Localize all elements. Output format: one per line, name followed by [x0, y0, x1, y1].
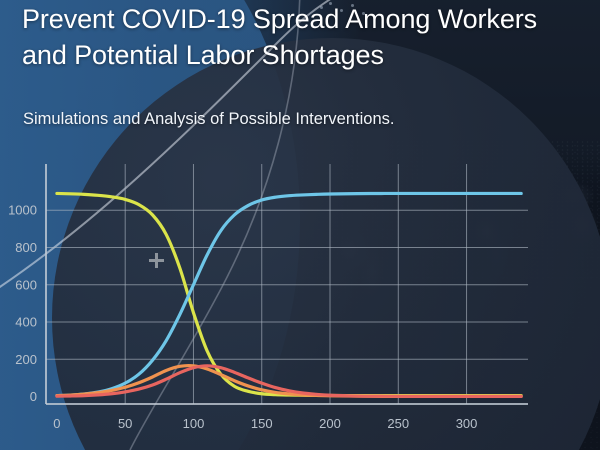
slide-title-line-2: and Potential Labor Shortages	[22, 38, 582, 74]
svg-text:150: 150	[251, 416, 273, 431]
svg-text:0: 0	[53, 416, 60, 431]
svg-text:800: 800	[15, 240, 37, 255]
chart-y-tick-labels: 02004006008001000	[8, 203, 37, 404]
svg-text:1000: 1000	[8, 203, 37, 218]
svg-text:50: 50	[118, 416, 132, 431]
slide-title-line-1: Prevent COVID-19 Spread Among Workers	[22, 2, 582, 38]
chart-series	[57, 193, 521, 396]
chart-axes	[46, 164, 528, 404]
presentation-slide: Prevent COVID-19 Spread Among Workers an…	[0, 0, 600, 450]
svg-text:400: 400	[15, 315, 37, 330]
slide-title: Prevent COVID-19 Spread Among Workers an…	[22, 2, 582, 74]
svg-text:300: 300	[456, 416, 478, 431]
sir-simulation-chart: 02004006008001000 050100150200250300	[0, 150, 600, 450]
svg-text:0: 0	[30, 389, 37, 404]
svg-text:250: 250	[387, 416, 409, 431]
svg-text:100: 100	[183, 416, 205, 431]
chart-gridlines	[46, 164, 528, 404]
chart-x-tick-labels: 050100150200250300	[53, 416, 477, 431]
svg-text:600: 600	[15, 277, 37, 292]
slide-subtitle: Simulations and Analysis of Possible Int…	[23, 110, 568, 129]
chart-canvas: 02004006008001000 050100150200250300	[0, 150, 600, 450]
svg-text:200: 200	[15, 352, 37, 367]
svg-text:200: 200	[319, 416, 341, 431]
